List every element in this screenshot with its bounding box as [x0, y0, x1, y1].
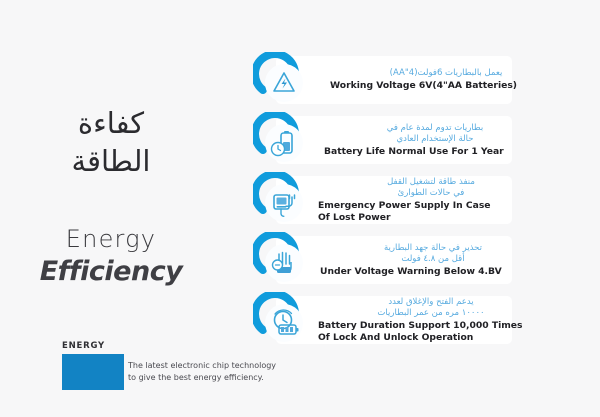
feature-english-line: Working Voltage 6V(4"AA Batteries)	[330, 80, 600, 92]
feature-arabic-line: بطاريات تدوم لمدة عام في	[314, 123, 556, 134]
infographic-page: كفاءة الطاقة Energy Efficiency ENERGY Th…	[0, 0, 600, 417]
clock-battery-cycles-icon	[253, 292, 309, 348]
feature-text-arabic: تحذير في حالة جهد البطارية أقل من ٤.٨ فو…	[314, 243, 600, 265]
feature-text-arabic: منفذ طاقة لتشغيل القفل في حالات الطوارئ	[314, 177, 600, 199]
accent-block	[62, 354, 124, 390]
hand-fingerprint-warning-icon	[253, 232, 309, 288]
page-title-english-line-1: Energy	[0, 225, 222, 253]
feature-row: بطاريات تدوم لمدة عام في حالة الإستخدام …	[248, 112, 600, 167]
feature-english-line: Of Lock And Unlock Operation	[318, 332, 600, 344]
feature-text-english: Battery Life Normal Use For 1 Year	[314, 146, 600, 158]
title-arabic-line-1: كفاءة	[0, 104, 222, 142]
description-line-2: to give the best energy efficiency.	[128, 372, 293, 384]
feature-text: منفذ طاقة لتشغيل القفل في حالات الطوارئ …	[314, 172, 600, 228]
left-panel: كفاءة الطاقة Energy Efficiency ENERGY Th…	[0, 0, 248, 417]
feature-text: يعمل بالبطاريات 6فولت(4"AA) Working Volt…	[314, 52, 600, 108]
page-title-english-line-2: Efficiency	[0, 256, 222, 288]
feature-row: يدعم الفتح والإغلاق لعدد ١٠٠٠٠ مره من عم…	[248, 292, 600, 347]
feature-text-arabic: يعمل بالبطاريات 6فولت(4"AA)	[314, 68, 600, 79]
description-text: The latest electronic chip technology to…	[128, 360, 293, 383]
feature-row: تحذير في حالة جهد البطارية أقل من ٤.٨ فو…	[248, 232, 600, 287]
feature-arabic-line: ١٠٠٠٠ مره من عمر البطاريات	[314, 308, 548, 319]
feature-text: يدعم الفتح والإغلاق لعدد ١٠٠٠٠ مره من عم…	[314, 292, 600, 348]
emergency-power-plug-icon	[253, 172, 309, 228]
feature-row: منفذ طاقة لتشغيل القفل في حالات الطوارئ …	[248, 172, 600, 227]
feature-arabic-line: تحذير في حالة جهد البطارية	[314, 243, 552, 254]
feature-english-line: Of Lost Power	[318, 212, 600, 224]
feature-arabic-line: يدعم الفتح والإغلاق لعدد	[314, 297, 548, 308]
feature-text-arabic: بطاريات تدوم لمدة عام في حالة الإستخدام …	[314, 123, 600, 145]
feature-arabic-line: أقل من ٤.٨ فولت	[314, 254, 552, 265]
feature-text-english: Working Voltage 6V(4"AA Batteries)	[314, 80, 600, 92]
feature-text: تحذير في حالة جهد البطارية أقل من ٤.٨ فو…	[314, 232, 600, 288]
voltage-warning-icon	[253, 52, 309, 108]
battery-clock-icon	[253, 112, 309, 168]
feature-text-arabic: يدعم الفتح والإغلاق لعدد ١٠٠٠٠ مره من عم…	[314, 297, 600, 319]
feature-english-line: Battery Life Normal Use For 1 Year	[324, 146, 600, 158]
feature-english-line: Under Voltage Warning Below 4.BV	[320, 266, 600, 278]
feature-english-line: Battery Duration Support 10,000 Times	[318, 320, 600, 332]
feature-arabic-line: في حالات الطوارئ	[314, 188, 548, 199]
feature-text-english: Battery Duration Support 10,000 Times Of…	[314, 320, 600, 343]
feature-text: بطاريات تدوم لمدة عام في حالة الإستخدام …	[314, 112, 600, 168]
page-title-arabic: كفاءة الطاقة	[0, 104, 222, 180]
feature-arabic-line: حالة الإستخدام العادي	[314, 134, 556, 145]
feature-row: يعمل بالبطاريات 6فولت(4"AA) Working Volt…	[248, 52, 600, 107]
feature-text-english: Emergency Power Supply In Case Of Lost P…	[314, 200, 600, 223]
feature-text-english: Under Voltage Warning Below 4.BV	[314, 266, 600, 278]
feature-arabic-line: يعمل بالبطاريات 6فولت(4"AA)	[314, 68, 578, 79]
feature-english-line: Emergency Power Supply In Case	[318, 200, 600, 212]
feature-list: يعمل بالبطاريات 6فولت(4"AA) Working Volt…	[248, 52, 600, 352]
section-label-energy: ENERGY	[62, 341, 105, 351]
description-line-1: The latest electronic chip technology	[128, 360, 293, 372]
title-arabic-line-2: الطاقة	[0, 142, 222, 180]
feature-arabic-line: منفذ طاقة لتشغيل القفل	[314, 177, 548, 188]
